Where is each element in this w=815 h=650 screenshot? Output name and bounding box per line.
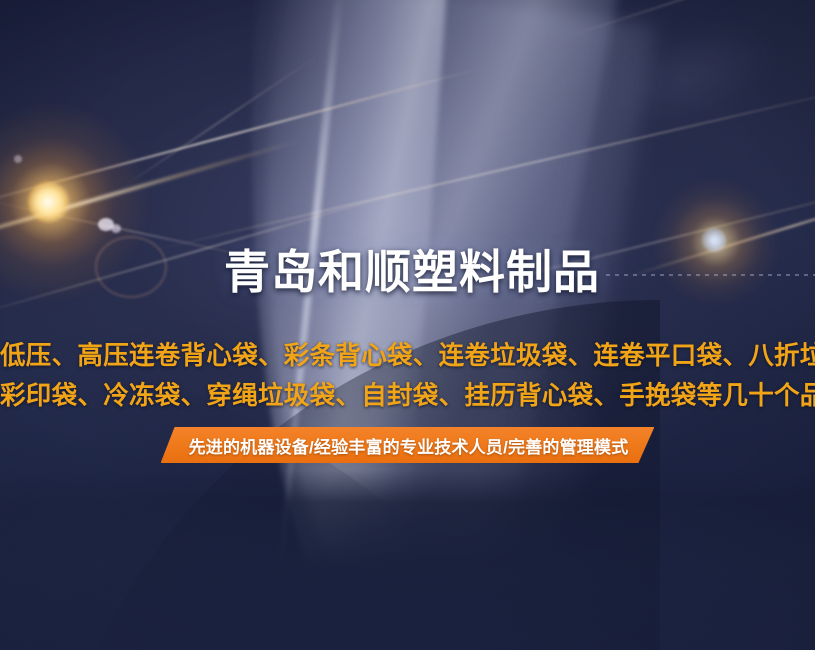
title-row: 青岛和顺塑料制品 bbox=[0, 246, 815, 299]
product-line-1: 低压、高压连卷背心袋、彩条背心袋、连卷垃圾袋、连卷平口袋、八折垃圾袋、 bbox=[0, 336, 815, 376]
company-title: 青岛和顺塑料制品 bbox=[224, 246, 600, 299]
tagline-ribbon: 先进的机器设备/经验丰富的专业技术人员/完善的管理模式 bbox=[161, 427, 655, 463]
tagline-text: 先进的机器设备/经验丰富的专业技术人员/完善的管理模式 bbox=[189, 433, 629, 458]
banner-content: 青岛和顺塑料制品 低压、高压连卷背心袋、彩条背心袋、连卷垃圾袋、连卷平口袋、八折… bbox=[0, 0, 815, 650]
title-dotted-rule bbox=[606, 274, 815, 276]
product-line-2: 彩印袋、冷冻袋、穿绳垃圾袋、自封袋、挂历背心袋、手挽袋等几十个品种 bbox=[0, 376, 815, 416]
promotional-banner: 青岛和顺塑料制品 低压、高压连卷背心袋、彩条背心袋、连卷垃圾袋、连卷平口袋、八折… bbox=[0, 0, 815, 650]
tagline-ribbon-wrap: 先进的机器设备/经验丰富的专业技术人员/完善的管理模式 bbox=[0, 427, 815, 463]
product-list: 低压、高压连卷背心袋、彩条背心袋、连卷垃圾袋、连卷平口袋、八折垃圾袋、 彩印袋、… bbox=[0, 336, 815, 416]
